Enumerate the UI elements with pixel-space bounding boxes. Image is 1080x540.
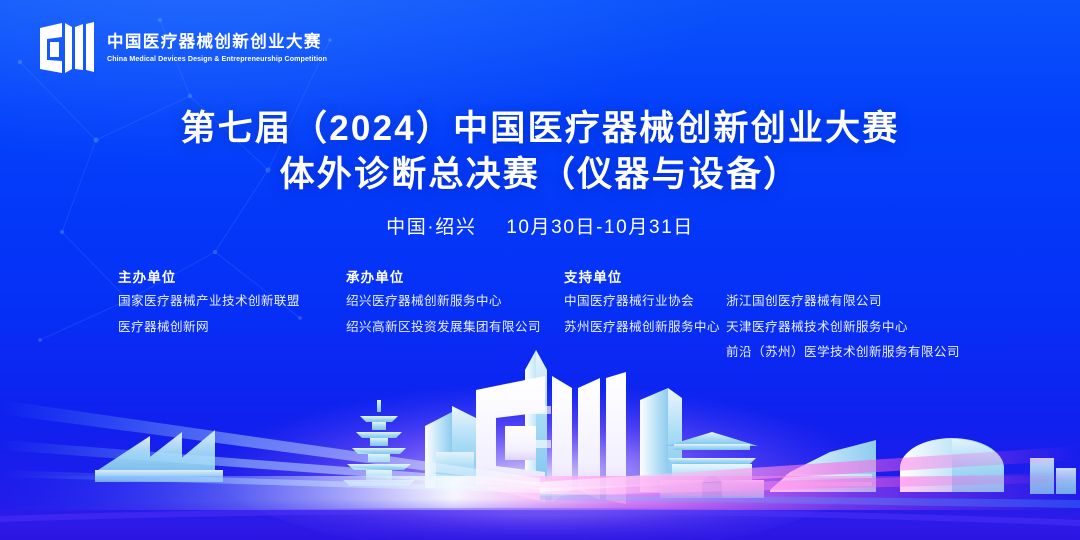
brand-logo: 中国医疗器械创新创业大赛 China Medical Devices Desig… <box>38 20 334 76</box>
organizer-item: 天津医疗器械技术创新服务中心 <box>726 321 960 334</box>
brand-name-en: China Medical Devices Design & Entrepren… <box>107 54 327 63</box>
event-title-line2: 体外诊断总决赛（仪器与设备） <box>0 152 1080 198</box>
organizer-item: 绍兴高新区投资发展集团有限公司 <box>346 321 564 334</box>
organizer-column-undertaker: 承办单位 绍兴医疗器械创新服务中心 绍兴高新区投资发展集团有限公司 <box>346 266 564 346</box>
organizer-column-host: 主办单位 国家医疗器械产业技术创新联盟 医疗器械创新网 <box>118 266 346 346</box>
title-block: 第七届（2024）中国医疗器械创新创业大赛 体外诊断总决赛（仪器与设备） 中国·… <box>0 106 1080 239</box>
organizer-item: 苏州医疗器械创新服务中心 <box>564 321 726 334</box>
open-book-door-logo-icon <box>38 20 96 76</box>
organizer-heading: 主办单位 <box>118 266 346 286</box>
organizer-item: 中国医疗器械行业协会 <box>564 295 726 308</box>
organizer-item: 浙江国创医疗器械有限公司 <box>726 295 960 308</box>
event-meta: 中国·绍兴 10月30日-10月31日 <box>0 212 1080 239</box>
organizer-column-supporter: 支持单位 中国医疗器械行业协会 苏州医疗器械创新服务中心 <box>564 266 726 346</box>
cityscape-scene <box>0 340 1080 540</box>
organizer-heading: 承办单位 <box>346 266 564 286</box>
organizer-heading: 支持单位 <box>564 266 726 286</box>
event-dates: 10月30日-10月31日 <box>506 217 694 238</box>
organizer-item: 国家医疗器械产业技术创新联盟 <box>118 295 346 308</box>
brand-name-cn: 中国医疗器械创新创业大赛 <box>107 33 334 52</box>
event-location: 中国·绍兴 <box>386 217 476 238</box>
event-poster: 中国医疗器械创新创业大赛 China Medical Devices Desig… <box>0 0 1080 540</box>
organizer-item: 绍兴医疗器械创新服务中心 <box>346 295 564 308</box>
event-title-line1: 第七届（2024）中国医疗器械创新创业大赛 <box>0 106 1080 152</box>
organizer-item: 医疗器械创新网 <box>118 321 346 334</box>
